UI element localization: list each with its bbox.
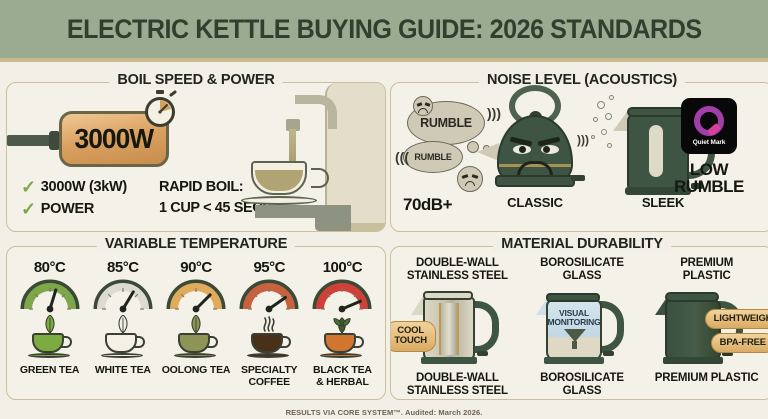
cup-body: [32, 333, 64, 353]
panel-body-temperature: 80°CGREEN TEA85°CWHITE TEA90°COOLONG TEA…: [7, 247, 385, 399]
quiet-mark-q-icon: [694, 106, 724, 136]
plastic-kettle-lid: [665, 292, 719, 302]
material-top-label: PREMIUMPLASTIC: [680, 257, 733, 283]
check-icon: ✓: [21, 178, 36, 196]
panel-boil-speed-power: BOIL SPEED & POWER 3000W ✓ 3000W (3kW): [6, 82, 386, 232]
cup-body: [105, 333, 137, 353]
saucer-icon: [241, 196, 317, 205]
cup-saucer: [28, 353, 70, 358]
temperature-value: 90°C: [180, 259, 212, 276]
check-item-wattage: ✓ 3000W (3kW): [21, 178, 127, 196]
temperature-value: 85°C: [107, 259, 139, 276]
panel-body-material: DOUBLE-WALLSTAINLESS STEELCOOLTOUCHDOUBL…: [391, 247, 768, 399]
temperature-label: WHITE TEA: [95, 365, 151, 377]
rapid-boil-heading: RAPID BOIL:: [159, 179, 243, 195]
material-kettle-illustration: VISUALMONITORING: [524, 287, 640, 369]
sound-wave-icon: (((: [395, 149, 409, 165]
quiet-bubble-icon: [593, 117, 598, 122]
glass-kettle-foot: [603, 351, 614, 356]
check-item-label: POWER: [41, 201, 94, 217]
quiet-bubble-icon: [597, 101, 605, 109]
temperature-label: OOLONG TEA: [162, 365, 231, 377]
panel-body-boil: 3000W ✓ 3000W (3kW) ✓ POWER RAPID BOIL: …: [7, 83, 385, 231]
quiet-bubble-icon: [609, 95, 614, 100]
material-item: BOROSILICATEGLASSVISUALMONITORINGBOROSIL…: [520, 257, 645, 398]
page-title: ELECTRIC KETTLE BUYING GUIDE: 2026 STAND…: [67, 14, 702, 45]
material-bottom-label: PREMIUM PLASTIC: [655, 372, 759, 385]
angry-face-icon: [413, 96, 433, 116]
counter-surface: [255, 205, 351, 218]
teacup-illustration: [318, 315, 366, 361]
feature-badge: BPA-FREE: [711, 333, 768, 353]
temperature-list: 80°CGREEN TEA85°CWHITE TEA90°COOLONG TEA…: [7, 247, 385, 399]
label-classic-kettle: CLASSIC: [489, 195, 581, 210]
temperature-item: 90°COOLONG TEA: [159, 259, 232, 393]
classic-kettle-spout: [477, 143, 499, 161]
check-item-label: 3000W (3kW): [41, 179, 127, 195]
cup-icon: [251, 161, 307, 195]
label-sleek-kettle: SLEEK: [613, 195, 713, 210]
panel-variable-temperature: VARIABLE TEMPERATURE 80°CGREEN TEA85°CWH…: [6, 246, 386, 400]
temperature-label: GREEN TEA: [20, 365, 79, 377]
teacup-illustration: [26, 315, 74, 361]
power-cord: [7, 135, 53, 146]
glass-kettle-filter-stem: [572, 341, 577, 349]
classic-kettle-foot: [571, 175, 585, 181]
low-rumble-line1: LOW: [663, 161, 755, 178]
angry-face-icon: [457, 166, 483, 192]
teacup-illustration: [99, 315, 147, 361]
kettle-pupil: [543, 146, 550, 153]
glass-kettle-base: [544, 357, 604, 364]
material-item: PREMIUMPLASTICLIGHTWEIGHTBPA-FREEPREMIUM…: [644, 257, 768, 398]
material-list: DOUBLE-WALLSTAINLESS STEELCOOLTOUCHDOUBL…: [391, 247, 768, 399]
steel-kettle-base: [421, 357, 477, 364]
dispenser-spout-arm: [295, 95, 337, 129]
low-rumble-text: LOW RUMBLE: [663, 161, 755, 196]
temperature-item: 100°CBLACK TEA& HERBAL: [306, 259, 379, 393]
temperature-item: 80°CGREEN TEA: [13, 259, 86, 393]
temperature-value: 95°C: [253, 259, 285, 276]
quiet-bubble-icon: [601, 129, 607, 135]
sound-wave-icon: ))): [487, 105, 501, 121]
check-icon: ✓: [21, 200, 36, 218]
steel-kettle-inner-wall: [439, 303, 459, 355]
quiet-bubble-icon: [591, 135, 595, 139]
temperature-gauge: [311, 278, 373, 312]
leaf-icon: [43, 315, 56, 333]
low-rumble-line2: RUMBLE: [663, 178, 755, 195]
quiet-mark-logo: Quiet Mark: [681, 98, 737, 154]
teacup-illustration: [245, 315, 293, 361]
material-top-label: DOUBLE-WALLSTAINLESS STEEL: [407, 257, 508, 283]
quiet-mark-label: Quiet Mark: [693, 139, 726, 146]
steel-kettle-foot: [477, 351, 488, 356]
page-header: ELECTRIC KETTLE BUYING GUIDE: 2026 STAND…: [0, 0, 768, 62]
rumble-bubble-small: RUMBLE: [403, 141, 463, 173]
plastic-kettle-body: [665, 299, 721, 361]
leaf-icon: [331, 315, 353, 333]
decibel-value: 70dB+: [403, 195, 452, 215]
feature-badge: LIGHTWEIGHT: [705, 309, 768, 329]
cup-saucer: [320, 353, 362, 358]
temperature-value: 80°C: [34, 259, 66, 276]
plastic-kettle-base: [663, 357, 723, 364]
quiet-bubble-icon: [607, 143, 612, 148]
cup-body: [251, 333, 283, 353]
temperature-gauge: [165, 278, 227, 312]
cup-saucer: [101, 353, 143, 358]
feature-badge: COOLTOUCH: [391, 321, 436, 352]
sound-wave-icon: ))): [577, 133, 589, 147]
temperature-label: SPECIALTYCOFFEE: [241, 365, 297, 389]
leaf-icon: [116, 315, 129, 333]
temperature-gauge: [92, 278, 154, 312]
kettle-pupil: [519, 146, 526, 153]
temperature-gauge: [19, 278, 81, 312]
material-bottom-label: DOUBLE-WALLSTAINLESS STEEL: [407, 372, 508, 398]
cup-saucer: [174, 353, 216, 358]
cup-body: [324, 333, 356, 353]
counter-surface-front: [315, 218, 351, 231]
temperature-value: 100°C: [323, 259, 362, 276]
sleek-kettle-water-window: [649, 125, 663, 177]
panel-grid: BOIL SPEED & POWER 3000W ✓ 3000W (3kW): [0, 70, 768, 400]
leaf-icon: [189, 315, 202, 333]
material-item: DOUBLE-WALLSTAINLESS STEELCOOLTOUCHDOUBL…: [395, 257, 520, 398]
temperature-label: BLACK TEA& HERBAL: [313, 365, 372, 389]
teacup-illustration: [172, 315, 220, 361]
temperature-item: 95°CSPECIALTYCOFFEE: [233, 259, 306, 393]
visual-monitoring-label: VISUALMONITORING: [546, 309, 602, 328]
cup-fill: [255, 170, 303, 191]
temperature-gauge: [238, 278, 300, 312]
panel-body-noise: RUMBLE RUMBLE ((( ))) 70dB+: [391, 83, 768, 231]
steel-kettle-lid: [423, 291, 473, 300]
steam-icon: [259, 313, 279, 333]
cup-saucer: [247, 353, 289, 358]
sleek-kettle-lid: [627, 107, 685, 117]
panel-noise-level: NOISE LEVEL (ACOUSTICS) RUMBLE RUMBLE ((…: [390, 82, 768, 232]
cup-body: [178, 333, 210, 353]
material-kettle-illustration: COOLTOUCH: [399, 287, 515, 369]
quiet-bubble-icon: [605, 113, 612, 120]
footer-note: RESULTS VIA CORE SYSTEM™. Audited: March…: [0, 408, 768, 417]
temperature-item: 85°CWHITE TEA: [86, 259, 159, 393]
check-item-power: ✓ POWER: [21, 200, 94, 218]
classic-kettle-base: [495, 175, 575, 187]
material-bottom-label: BOROSILICATE GLASS: [520, 372, 645, 398]
glass-kettle-lid: [546, 293, 600, 302]
panel-material-durability: MATERIAL DURABILITY DOUBLE-WALLSTAINLESS…: [390, 246, 768, 400]
material-kettle-illustration: LIGHTWEIGHTBPA-FREE: [649, 287, 765, 369]
stopwatch-icon: [140, 89, 180, 129]
material-top-label: BOROSILICATEGLASS: [540, 257, 624, 283]
